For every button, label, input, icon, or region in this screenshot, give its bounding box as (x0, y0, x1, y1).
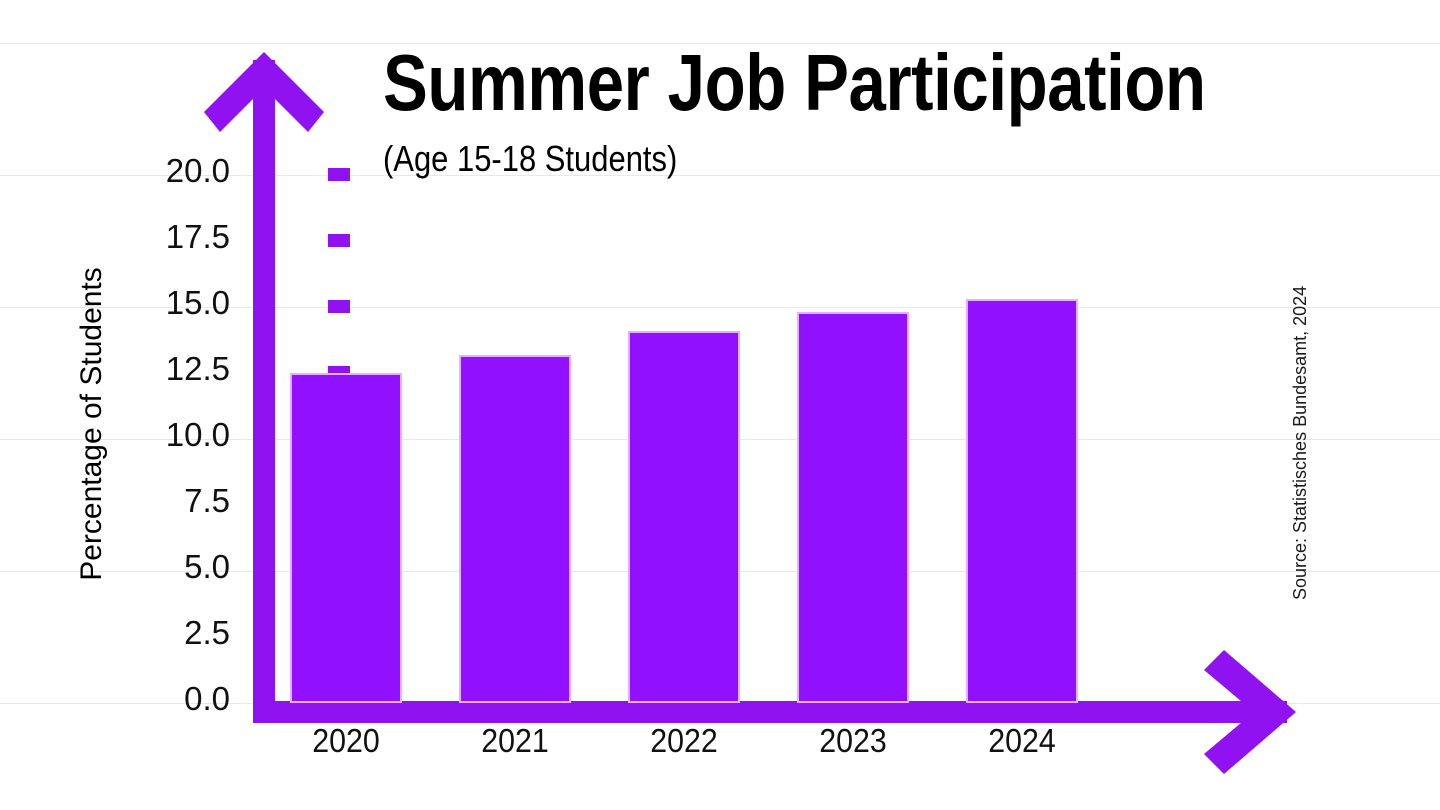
bar (290, 373, 402, 703)
x-axis-tick-label: 2022 (632, 722, 735, 760)
y-axis-tick-label: 20.0 (90, 152, 230, 190)
y-axis-tick-mark (328, 168, 350, 181)
chart-title: Summer Job Participation (383, 43, 1206, 123)
x-axis-tick-label: 2020 (294, 722, 397, 760)
y-axis-tick-label: 0.0 (90, 680, 230, 718)
y-axis-tick-label: 17.5 (90, 218, 230, 256)
source-note: Source: Statistisches Bundesamt, 2024 (1290, 260, 1311, 600)
y-axis-tick-label: 10.0 (90, 416, 230, 454)
x-axis-line (253, 701, 1287, 723)
x-axis-tick-label: 2024 (970, 722, 1073, 760)
x-axis-tick-label: 2023 (801, 722, 904, 760)
y-axis-line (253, 60, 275, 718)
y-axis-tick-label: 7.5 (90, 482, 230, 520)
y-axis-tick-label: 5.0 (90, 548, 230, 586)
y-axis-tick-label: 2.5 (90, 614, 230, 652)
bar (628, 331, 740, 703)
y-axis-tick-label: 12.5 (90, 350, 230, 388)
y-axis-tick-mark (328, 234, 350, 247)
bar (459, 355, 571, 703)
chart-canvas: Summer Job Participation (Age 15-18 Stud… (0, 0, 1440, 810)
y-axis-tick-label: 15.0 (90, 284, 230, 322)
arrow-right-icon (1204, 650, 1296, 774)
y-axis-tick-mark (328, 300, 350, 313)
bar (797, 312, 909, 703)
chart-subtitle: (Age 15-18 Students) (383, 141, 677, 177)
bar (966, 299, 1078, 703)
y-axis-tick-labels: 0.02.55.07.510.012.515.017.520.0 (90, 0, 230, 810)
x-axis-tick-label: 2021 (463, 722, 566, 760)
